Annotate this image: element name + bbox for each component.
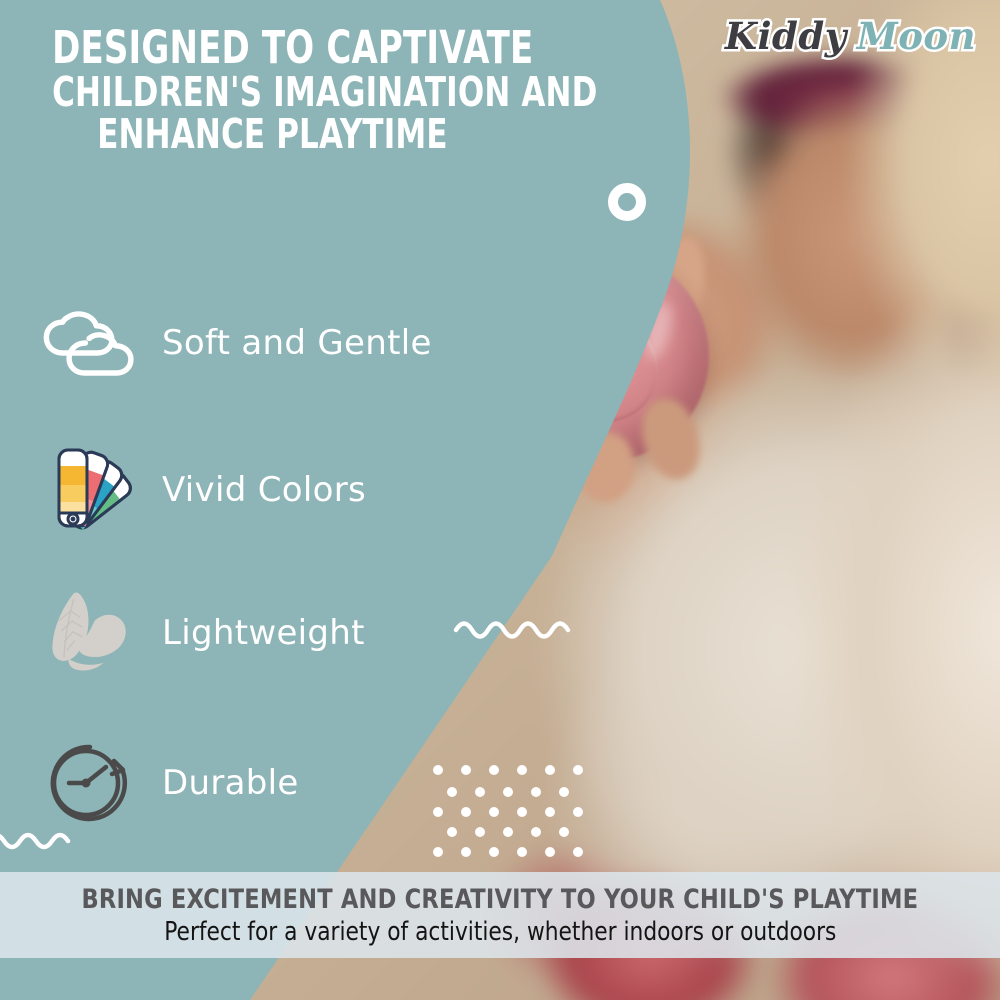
brand-logo-kiddy: Kiddy bbox=[725, 14, 847, 58]
brand-logo: KiddyMoon bbox=[725, 14, 976, 58]
feature-label: Durable bbox=[162, 763, 299, 803]
headline-line-1: DESIGNED TO CAPTIVATE bbox=[0, 26, 504, 69]
bottom-caption-bar: BRING EXCITEMENT AND CREATIVITY TO YOUR … bbox=[0, 872, 1000, 958]
feather-icon bbox=[40, 590, 140, 676]
feature-label: Lightweight bbox=[162, 613, 365, 653]
promo-poster: Kiddy Moon DESIGNED TO CAPTIVATE CHILDRE… bbox=[0, 0, 1000, 1000]
feature-label: Vivid Colors bbox=[162, 470, 366, 510]
feature-item-lightweight: Lightweight bbox=[40, 590, 365, 676]
bottom-bar-headline: BRING EXCITEMENT AND CREATIVITY TO YOUR … bbox=[82, 884, 919, 915]
page-title: DESIGNED TO CAPTIVATE CHILDREN'S IMAGINA… bbox=[0, 26, 600, 154]
brand-logo-moon: Moon bbox=[857, 14, 976, 58]
headline-line-2: CHILDREN'S IMAGINATION AND bbox=[0, 73, 504, 112]
feature-label: Soft and Gentle bbox=[162, 323, 432, 363]
color-swatch-fan-icon bbox=[40, 447, 140, 533]
clock-arrow-icon bbox=[40, 740, 140, 826]
headline-line-3: ENHANCE PLAYTIME bbox=[44, 115, 502, 154]
clouds-icon bbox=[40, 300, 140, 386]
feature-item-soft-and-gentle: Soft and Gentle bbox=[40, 300, 432, 386]
feature-item-vivid-colors: Vivid Colors bbox=[40, 447, 366, 533]
bottom-bar-subline: Perfect for a variety of activities, whe… bbox=[164, 917, 836, 947]
feature-item-durable: Durable bbox=[40, 740, 299, 826]
